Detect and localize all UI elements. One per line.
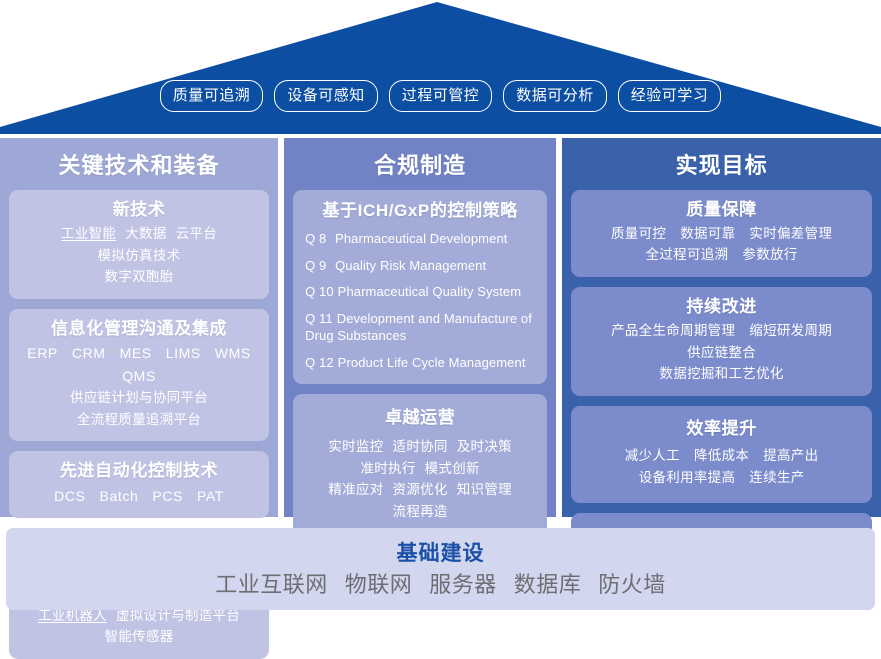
card-row: 数字双胞胎 [19,267,259,288]
chip-item: CRM [72,343,106,365]
chip-item: 质量可控 [611,224,666,245]
ich-item-code: Q 9 [305,257,331,275]
chip-item: 提高产出 [763,446,818,467]
chip-item: PAT [197,486,224,508]
chip-item: 模式创新 [425,459,480,480]
roof-tag-0[interactable]: 质量可追溯 [160,80,264,112]
card-row: 数据挖掘和工艺优化 [581,364,862,385]
card-informatization-integration[interactable]: 信息化管理沟通及集成 ERP CRM MES LIMS WMS QMS 供应链计… [9,309,269,441]
card-row: 产品全生命周期管理 缩短研发周期 供应链整合 [581,321,862,364]
ich-item: Q 9Quality Risk Management [305,257,535,275]
ich-item-code: Q 11 [305,310,333,328]
foundation-item: 服务器 [429,574,497,596]
ich-item-code: Q 8 [305,230,331,248]
chip-item: 供应链计划与协同平台 [70,388,208,409]
chip-item: 连续生产 [749,468,804,489]
chip-item: 数据可靠 [680,224,735,245]
card-row: 实时监控 适时协同 及时决策 准时执行 模式创新 [303,437,537,480]
chip-item: 适时协同 [393,437,448,458]
ich-item: Q 10Pharmaceutical Quality System [305,283,535,301]
chip-item: 模拟仿真技术 [98,246,181,267]
card-new-technology[interactable]: 新技术 工业智能 大数据 云平台 模拟仿真技术 数字双胞胎 [9,190,269,299]
card-row: 减少人工 降低成本 提高产出 设备利用率提高 连续生产 [581,446,862,489]
ich-item-label: Pharmaceutical Development [335,231,507,246]
chip-item: 实时监控 [328,437,383,458]
chip-item: 数字双胞胎 [105,267,174,288]
chip-item: 参数放行 [742,245,797,266]
card-title: 先进自动化控制技术 [19,460,259,481]
card-row: DCS Batch PCS PAT [19,486,259,508]
chip-item: 设备利用率提高 [639,468,736,489]
foundation-item-list: 工业互联网 物联网 服务器 数据库 防火墙 [215,574,666,596]
roof-shape-icon [0,0,881,134]
chip-item: LIMS [166,343,201,365]
foundation-item: 物联网 [345,574,413,596]
column-key-technology: 关键技术和装备 新技术 工业智能 大数据 云平台 模拟仿真技术 数字双胞胎 信息… [0,138,278,517]
roof-tag-2[interactable]: 过程可管控 [389,80,493,112]
chip-item: 供应链整合 [687,343,756,364]
card-efficiency-improvement[interactable]: 效率提升 减少人工 降低成本 提高产出 设备利用率提高 连续生产 [571,406,872,503]
card-row: 质量可控 数据可靠 实时偏差管理 [581,224,862,245]
infographic-root: 质量可追溯 设备可感知 过程可管控 数据可分析 经验可学习 关键技术和装备 新技… [0,0,881,616]
roof-tag-list: 质量可追溯 设备可感知 过程可管控 数据可分析 经验可学习 [0,80,881,112]
foundation-item: 工业互联网 [215,574,328,596]
card-row: 工业机器人 虚拟设计与制造平台 智能传感器 [19,606,259,649]
card-title: 信息化管理沟通及集成 [19,318,259,339]
card-title: 质量保障 [581,199,862,220]
chip-item: 云平台 [176,224,217,245]
chip-item[interactable]: 工业智能 [61,224,116,245]
ich-item-code: Q 12 [305,354,334,372]
roof-tag-1[interactable]: 设备可感知 [274,80,378,112]
chip-item: 产品全生命周期管理 [611,321,735,342]
ich-item: Q 12Product Life Cycle Management [305,354,535,372]
ich-item-label: Development and Manufacture of Drug Subs… [305,311,532,344]
chip-item: 准时执行 [360,459,415,480]
foundation-title: 基础建设 [397,543,485,564]
foundation-item: 数据库 [514,574,582,596]
chip-item: MES [120,343,152,365]
chip-item: 资源优化 [393,480,448,501]
chip-item: 智能传感器 [105,627,174,648]
chip-item: 知识管理 [457,480,512,501]
card-continuous-improvement[interactable]: 持续改进 产品全生命周期管理 缩短研发周期 供应链整合 数据挖掘和工艺优化 [571,287,872,396]
chip-item: PCS [152,486,183,508]
column-title-left: 关键技术和装备 [9,155,269,177]
card-row: ERP CRM MES LIMS WMS QMS [19,343,259,387]
pillar-columns: 关键技术和装备 新技术 工业智能 大数据 云平台 模拟仿真技术 数字双胞胎 信息… [0,138,881,517]
chip-item: Batch [100,486,139,508]
ich-item-code: Q 10 [305,283,334,301]
chip-item: 降低成本 [694,446,749,467]
roof-tag-4[interactable]: 经验可学习 [618,80,722,112]
chip-item: 数据挖掘和工艺优化 [659,364,783,385]
card-row: 全过程可追溯 参数放行 [581,245,862,266]
chip-item: ERP [27,343,58,365]
card-operational-excellence[interactable]: 卓越运营 实时监控 适时协同 及时决策 准时执行 模式创新 精准应对 资源优化 … [293,394,547,539]
column-compliant-manufacturing: 合规制造 基于ICH/GxP的控制策略 Q 8Pharmaceutical De… [284,138,556,517]
chip-item: 精准应对 [328,480,383,501]
card-row: 工业智能 大数据 云平台 模拟仿真技术 [19,224,259,267]
foundation-bar: 基础建设 工业互联网 物联网 服务器 数据库 防火墙 [6,528,875,610]
card-title: 效率提升 [581,418,862,439]
card-quality-assurance[interactable]: 质量保障 质量可控 数据可靠 实时偏差管理 全过程可追溯 参数放行 [571,190,872,277]
chip-item: 缩短研发周期 [749,321,832,342]
chip-item: 全流程质量追溯平台 [77,410,201,431]
ich-item-label: Quality Risk Management [335,258,486,273]
chip-item: WMS [215,343,251,365]
ich-item: Q 11Development and Manufacture of Drug … [305,310,535,345]
roof-tag-3[interactable]: 数据可分析 [503,80,607,112]
column-title-right: 实现目标 [571,155,872,177]
card-title: 基于ICH/GxP的控制策略 [305,200,535,221]
chip-item: 全过程可追溯 [646,245,729,266]
chip-item: 大数据 [125,224,166,245]
ich-item-label: Product Life Cycle Management [338,355,526,370]
chip-item: 减少人工 [625,446,680,467]
chip-item: 流程再造 [393,502,448,523]
card-row: 供应链计划与协同平台 全流程质量追溯平台 [19,388,259,431]
ich-item: Q 8Pharmaceutical Development [305,230,535,248]
card-title: 新技术 [19,199,259,220]
chip-item: 实时偏差管理 [749,224,832,245]
column-goals: 实现目标 质量保障 质量可控 数据可靠 实时偏差管理 全过程可追溯 参数放行 持… [562,138,881,517]
chip-item: DCS [54,486,85,508]
roof-triangle: 质量可追溯 设备可感知 过程可管控 数据可分析 经验可学习 [0,0,881,134]
chip-item: 及时决策 [457,437,512,458]
card-ich-gxp-control-strategy[interactable]: 基于ICH/GxP的控制策略 Q 8Pharmaceutical Develop… [293,190,547,384]
ich-item-label: Pharmaceutical Quality System [338,284,522,299]
column-title-middle: 合规制造 [293,155,547,177]
chip-item: QMS [122,366,156,388]
foundation-item: 防火墙 [598,574,666,596]
card-title: 卓越运营 [303,407,537,428]
card-row: 精准应对 资源优化 知识管理 流程再造 [303,480,537,523]
card-title: 持续改进 [581,296,862,317]
card-advanced-automation-control[interactable]: 先进自动化控制技术 DCS Batch PCS PAT [9,451,269,518]
